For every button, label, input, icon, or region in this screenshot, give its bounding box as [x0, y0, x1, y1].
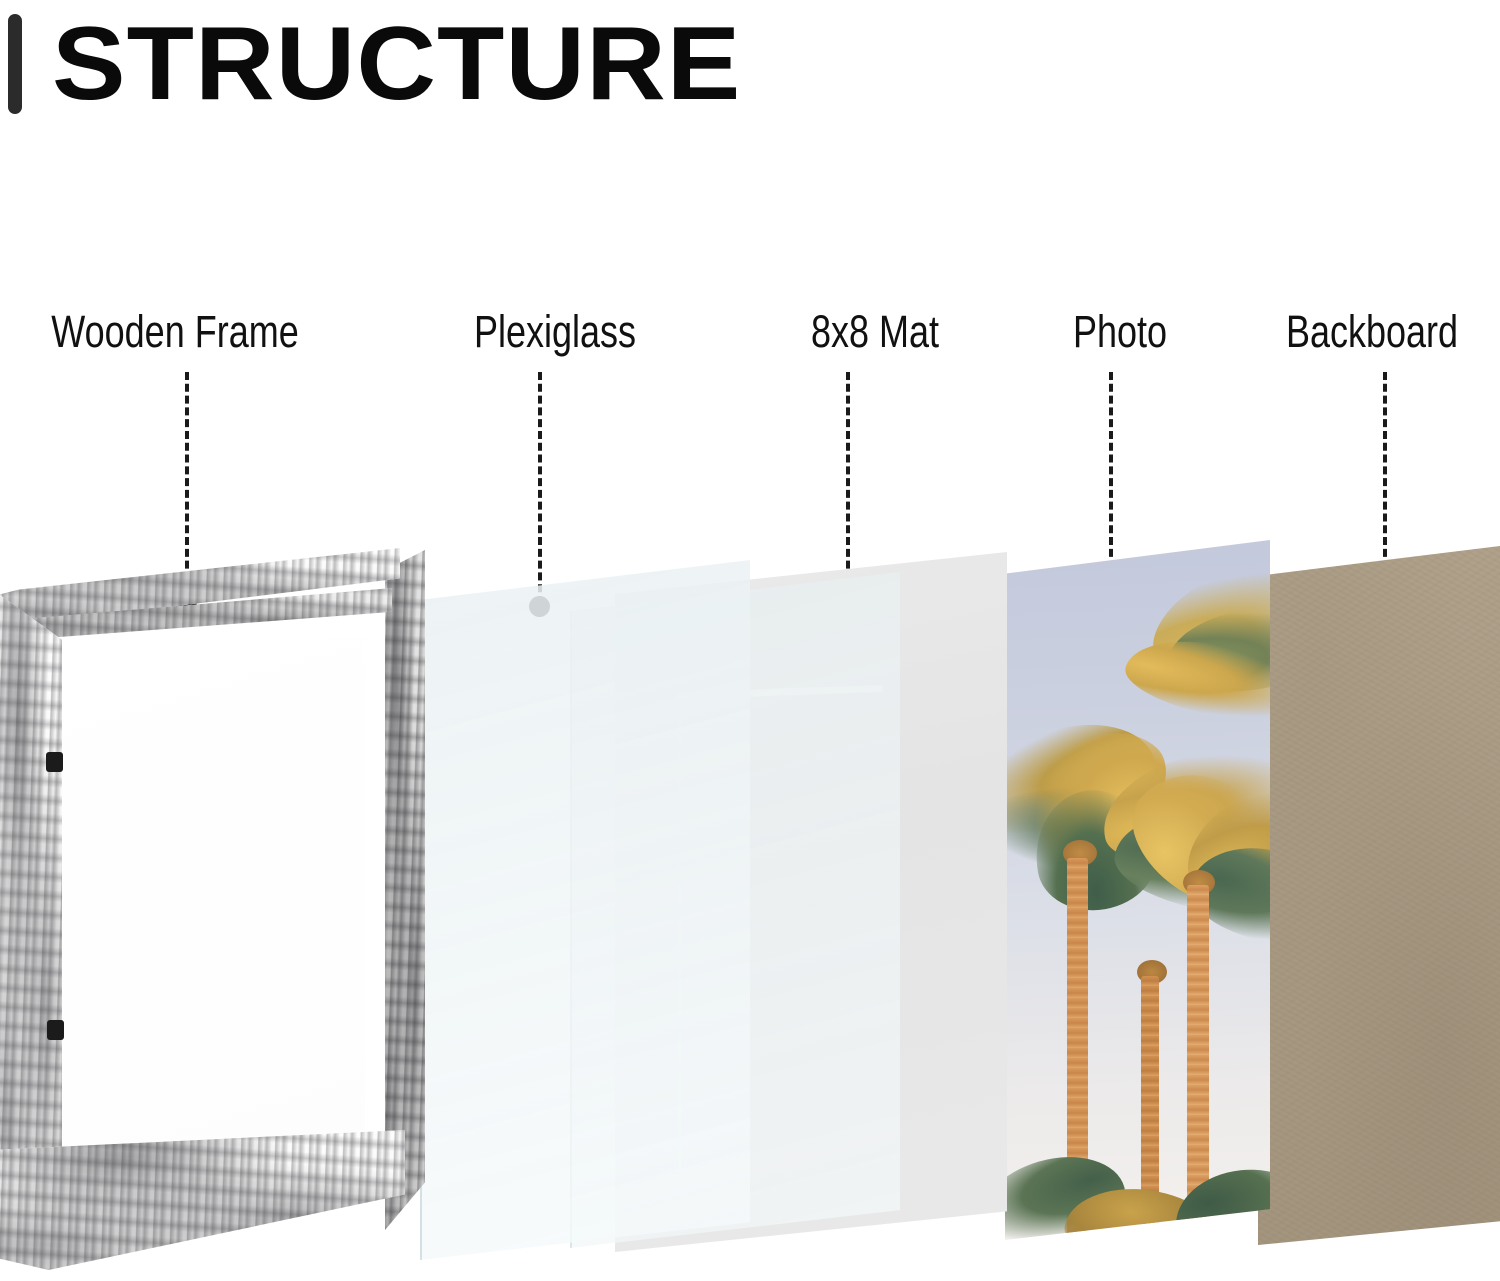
frame-stile-left [0, 595, 62, 1235]
exploded-view-diagram [0, 0, 1500, 1267]
layer-photo [1005, 540, 1270, 1240]
frame-rail-bottom [0, 1130, 405, 1270]
frame-clip [47, 1020, 64, 1040]
layer-wooden-frame [0, 540, 425, 1270]
plexiglass-sheet [420, 560, 750, 1260]
frame-opening [50, 617, 365, 1199]
backboard-panel [1258, 545, 1500, 1245]
frame-clip [46, 752, 63, 772]
frame-side-right [385, 550, 425, 1230]
layer-plexiglass-front [420, 560, 750, 1260]
layer-backboard [1258, 545, 1500, 1245]
